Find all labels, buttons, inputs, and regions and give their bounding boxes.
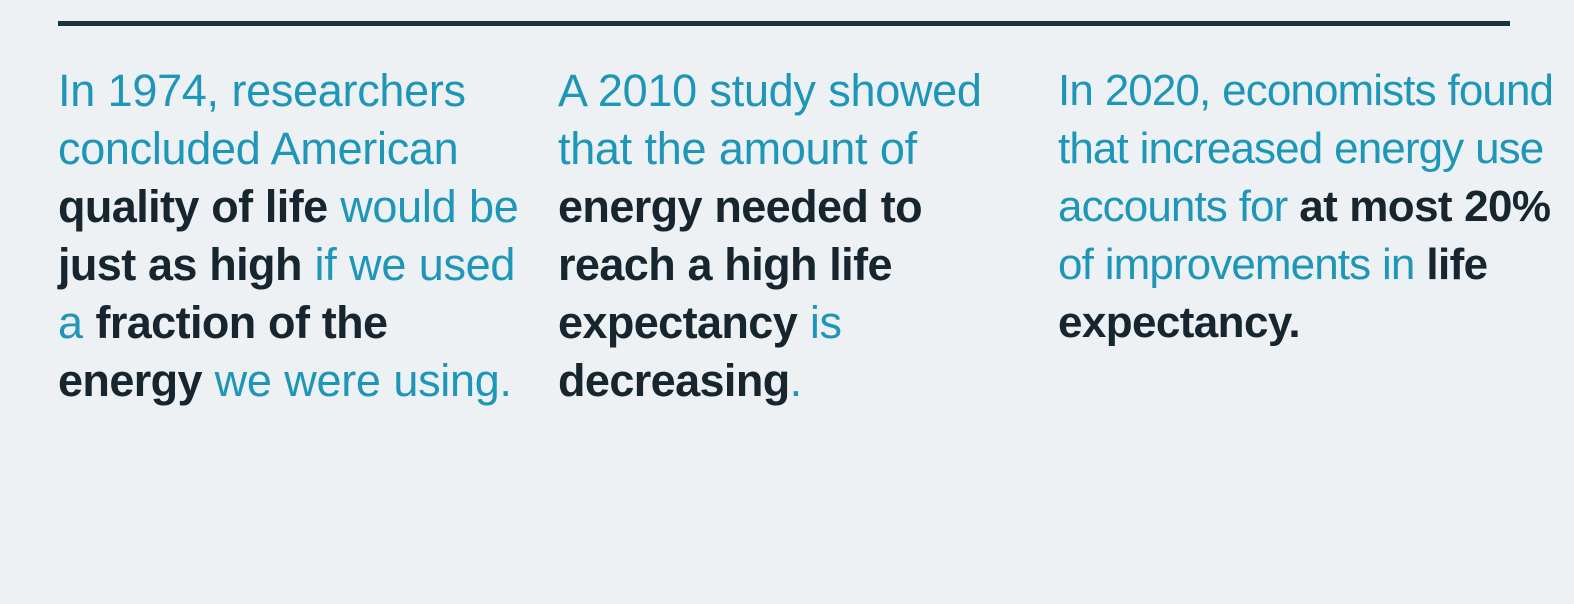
statement-text-3: In 2020, economists found that increased… bbox=[1058, 62, 1558, 352]
plain-phrase: A 2010 study showed that the amount of bbox=[558, 65, 982, 174]
emphasis-phrase: at most 20% bbox=[1299, 182, 1550, 231]
plain-phrase: is bbox=[797, 297, 842, 348]
statement-columns: In 1974, researchers concluded American … bbox=[58, 62, 1558, 410]
plain-phrase: would be bbox=[328, 181, 519, 232]
statement-text-2: A 2010 study showed that the amount of e… bbox=[558, 62, 1034, 410]
plain-phrase: we were using. bbox=[202, 355, 512, 406]
plain-phrase: of improvements in bbox=[1058, 240, 1426, 289]
plain-phrase: . bbox=[790, 355, 802, 406]
statement-column-3: In 2020, economists found that increased… bbox=[1058, 62, 1558, 352]
emphasis-phrase: just as high bbox=[58, 239, 302, 290]
emphasis-phrase: quality of life bbox=[58, 181, 328, 232]
statement-column-1: In 1974, researchers concluded American … bbox=[58, 62, 558, 410]
statement-panel: In 1974, researchers concluded American … bbox=[0, 0, 1574, 604]
emphasis-phrase: decreasing bbox=[558, 355, 790, 406]
statement-column-2: A 2010 study showed that the amount of e… bbox=[558, 62, 1058, 410]
statement-text-1: In 1974, researchers concluded American … bbox=[58, 62, 534, 410]
emphasis-phrase: energy needed to reach a high life expec… bbox=[558, 181, 922, 348]
top-divider-rule bbox=[58, 21, 1510, 26]
plain-phrase: In 1974, researchers concluded American bbox=[58, 65, 466, 174]
